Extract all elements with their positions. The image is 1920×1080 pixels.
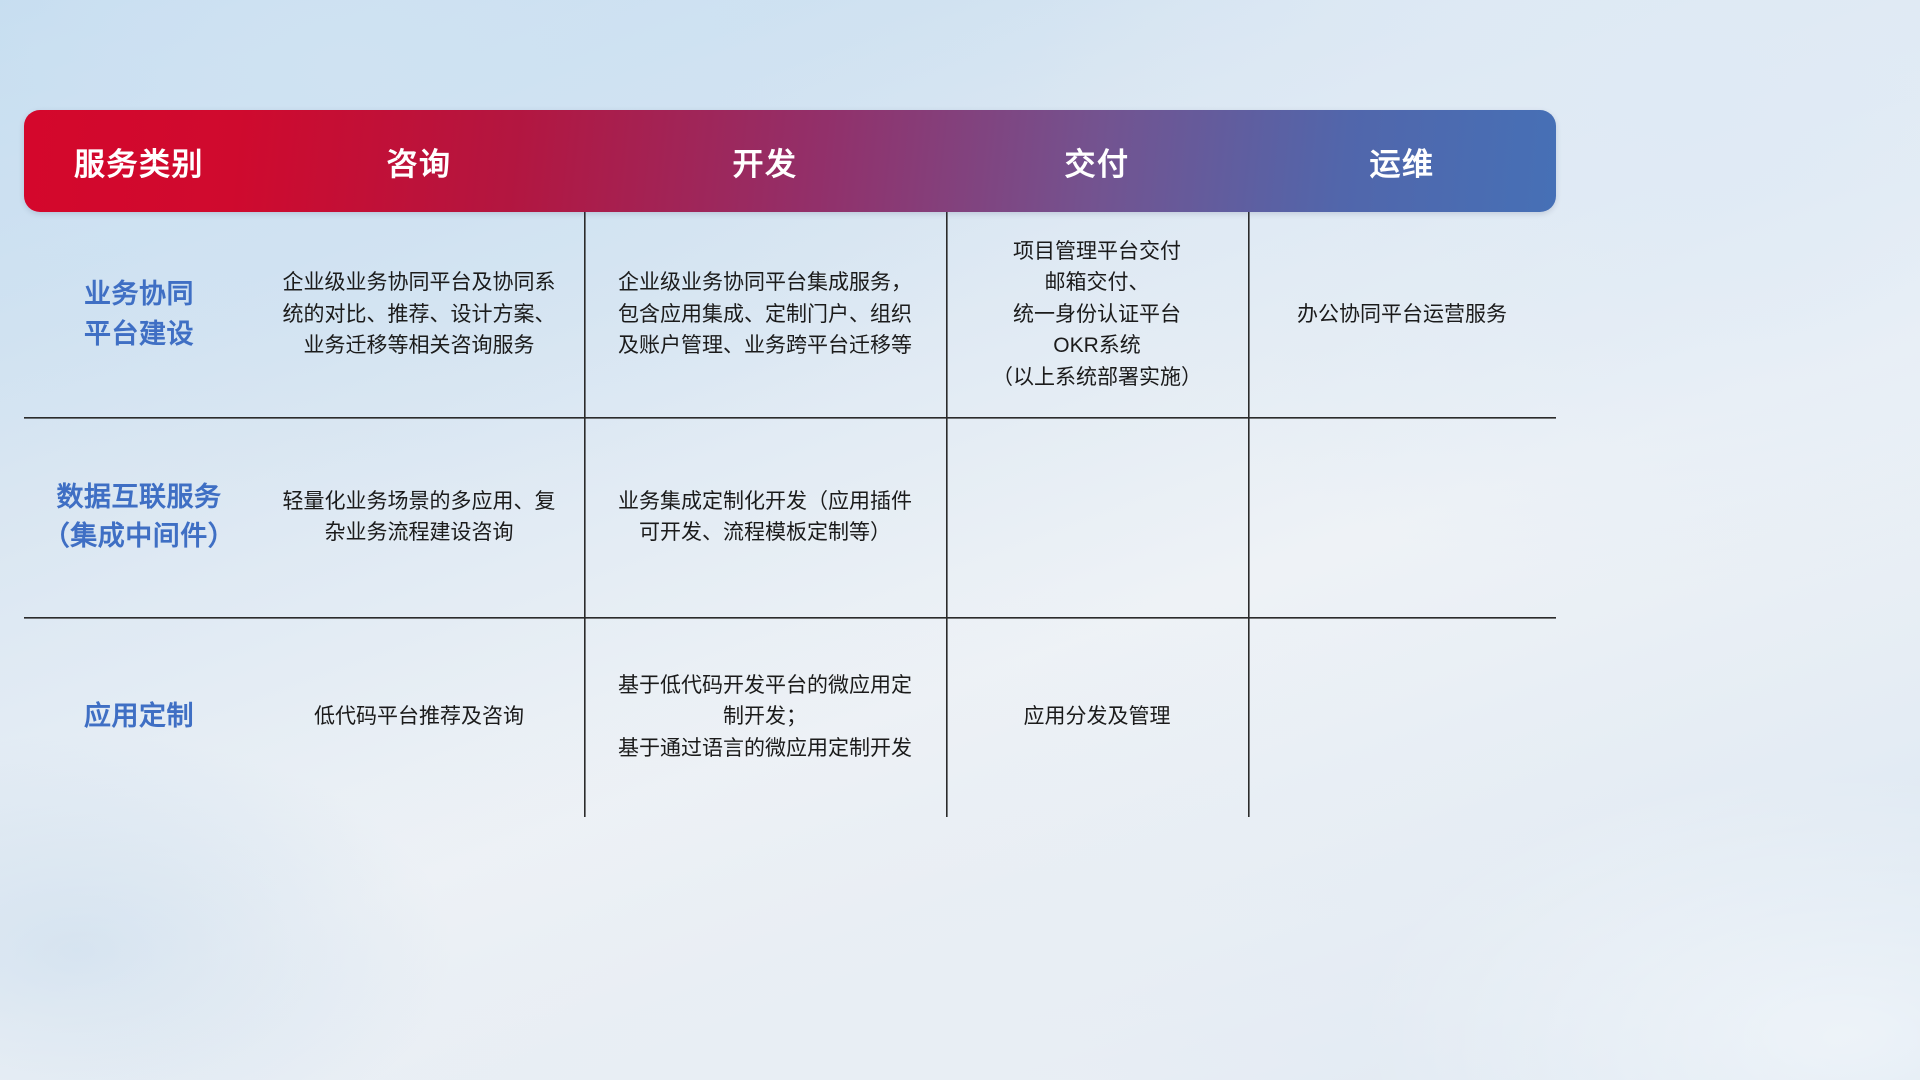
column-header-development[interactable]: 开发 (584, 110, 946, 212)
cell-value: 企业级业务协同平台及协同系 统的对比、推荐、设计方案、 业务迁移等相关咨询服务 (268, 267, 570, 362)
cell-consulting: 企业级业务协同平台及协同系 统的对比、推荐、设计方案、 业务迁移等相关咨询服务 (254, 212, 584, 417)
cell-value: 低代码平台推荐及咨询 (268, 701, 570, 733)
cell-value: 轻量化业务场景的多应用、复 杂业务流程建设咨询 (268, 486, 570, 549)
row-category-label: 数据互联服务 （集成中间件） (24, 417, 254, 617)
cell-development: 企业级业务协同平台集成服务， 包含应用集成、定制门户、组织 及账户管理、业务跨平… (584, 212, 946, 417)
table-row: 数据互联服务 （集成中间件） 轻量化业务场景的多应用、复 杂业务流程建设咨询 业… (24, 417, 1556, 617)
table-row: 应用定制 低代码平台推荐及咨询 基于低代码开发平台的微应用定 制开发； 基于通过… (24, 617, 1556, 817)
cell-value: 应用定制 (38, 697, 240, 736)
service-matrix: 服务类别 咨询 开发 交付 运维 业务协同 平台建设 企业级业务协同平台及协同系… (24, 110, 1556, 817)
cell-value: 业务协同 平台建设 (38, 275, 240, 353)
table-row: 业务协同 平台建设 企业级业务协同平台及协同系 统的对比、推荐、设计方案、 业务… (24, 212, 1556, 417)
cell-value: 企业级业务协同平台集成服务， 包含应用集成、定制门户、组织 及账户管理、业务跨平… (598, 267, 932, 362)
cell-value: 基于低代码开发平台的微应用定 制开发； 基于通过语言的微应用定制开发 (598, 670, 932, 765)
cell-value: 数据互联服务 （集成中间件） (38, 478, 240, 556)
service-matrix-table: 服务类别 咨询 开发 交付 运维 业务协同 平台建设 企业级业务协同平台及协同系… (24, 110, 1556, 782)
slide-canvas: 服务类别 咨询 开发 交付 运维 业务协同 平台建设 企业级业务协同平台及协同系… (0, 0, 1920, 1080)
column-header-operations[interactable]: 运维 (1248, 110, 1556, 212)
column-header-delivery[interactable]: 交付 (946, 110, 1248, 212)
cell-value: 业务集成定制化开发（应用插件 可开发、流程模板定制等） (598, 486, 932, 549)
cell-value: 应用分发及管理 (960, 701, 1234, 733)
row-category-label: 业务协同 平台建设 (24, 212, 254, 417)
cell-consulting: 轻量化业务场景的多应用、复 杂业务流程建设咨询 (254, 417, 584, 617)
cell-operations: 办公协同平台运营服务 (1248, 212, 1556, 417)
column-header-category[interactable]: 服务类别 (24, 110, 254, 212)
cell-delivery (946, 417, 1248, 617)
cell-consulting: 低代码平台推荐及咨询 (254, 617, 584, 817)
cell-development: 业务集成定制化开发（应用插件 可开发、流程模板定制等） (584, 417, 946, 617)
cell-operations (1248, 417, 1556, 617)
cell-value: 项目管理平台交付 邮箱交付、 统一身份认证平台 OKR系统 （以上系统部署实施） (960, 236, 1234, 394)
cell-delivery: 项目管理平台交付 邮箱交付、 统一身份认证平台 OKR系统 （以上系统部署实施） (946, 212, 1248, 417)
table-body: 业务协同 平台建设 企业级业务协同平台及协同系 统的对比、推荐、设计方案、 业务… (24, 212, 1556, 817)
cell-delivery: 应用分发及管理 (946, 617, 1248, 817)
cell-value: 办公协同平台运营服务 (1262, 299, 1542, 331)
row-category-label: 应用定制 (24, 617, 254, 817)
cell-development: 基于低代码开发平台的微应用定 制开发； 基于通过语言的微应用定制开发 (584, 617, 946, 817)
cell-operations (1248, 617, 1556, 817)
column-header-consulting[interactable]: 咨询 (254, 110, 584, 212)
table-head: 服务类别 咨询 开发 交付 运维 (24, 110, 1556, 212)
header-row: 服务类别 咨询 开发 交付 运维 (24, 110, 1556, 212)
